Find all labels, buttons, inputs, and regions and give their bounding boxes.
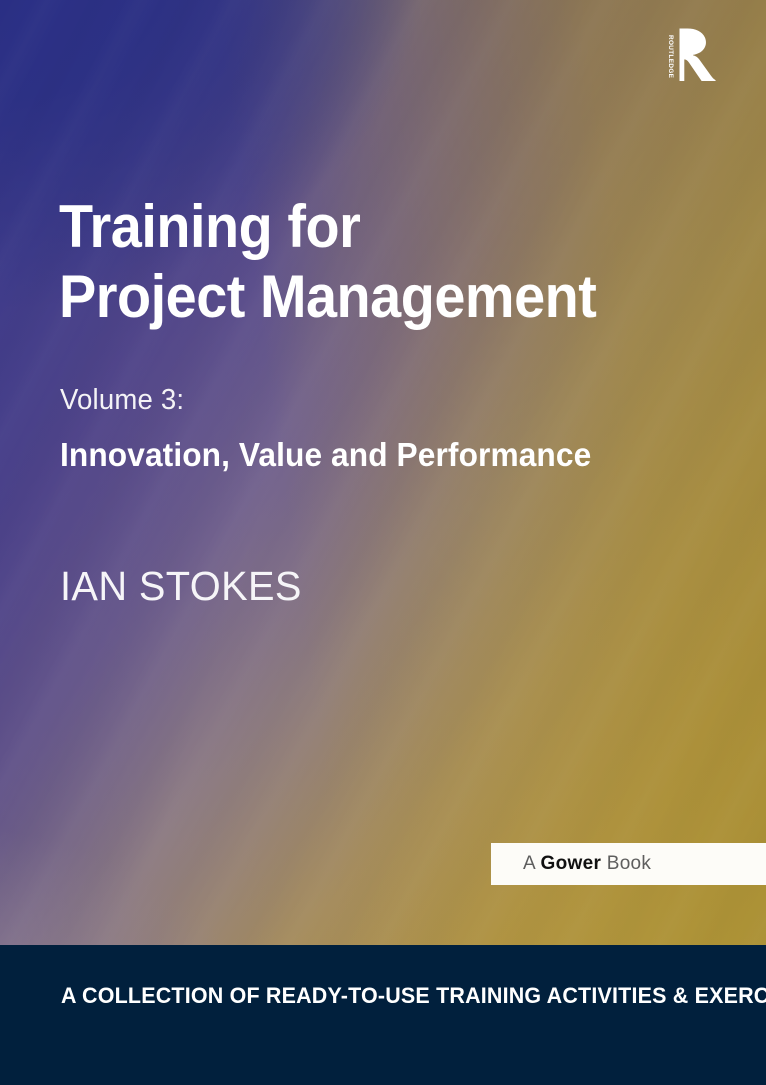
imprint-prefix: A	[523, 853, 541, 874]
author-name: IAN STOKES	[60, 562, 302, 610]
cover-bottom-banner: A COLLECTION OF READY-TO-USE TRAINING AC…	[0, 945, 766, 1085]
subtitle-text: Innovation, Value and Performance	[60, 434, 713, 476]
cover-title: Training for Project Management	[59, 192, 719, 332]
volume-label: Volume 3:	[60, 382, 706, 418]
title-line-2: Project Management	[59, 262, 673, 332]
banner-tagline: A COLLECTION OF READY-TO-USE TRAINING AC…	[61, 983, 766, 1009]
cover-gradient-mauve-corner	[0, 0, 766, 1085]
title-line-1: Training for	[59, 192, 673, 262]
routledge-logo: ROUTLEDGE	[657, 27, 723, 89]
imprint-brand: Gower	[541, 853, 602, 874]
cover-subtitle-block: Volume 3: Innovation, Value and Performa…	[60, 382, 740, 476]
gower-imprint-text: A Gower Book	[523, 853, 651, 875]
imprint-suffix: Book	[601, 853, 651, 874]
gower-imprint-badge: A Gower Book	[491, 843, 766, 885]
routledge-logo-icon: ROUTLEDGE	[657, 27, 723, 89]
book-cover: ROUTLEDGE Training for Project Managemen…	[0, 0, 766, 1085]
routledge-wordmark: ROUTLEDGE	[667, 35, 674, 79]
